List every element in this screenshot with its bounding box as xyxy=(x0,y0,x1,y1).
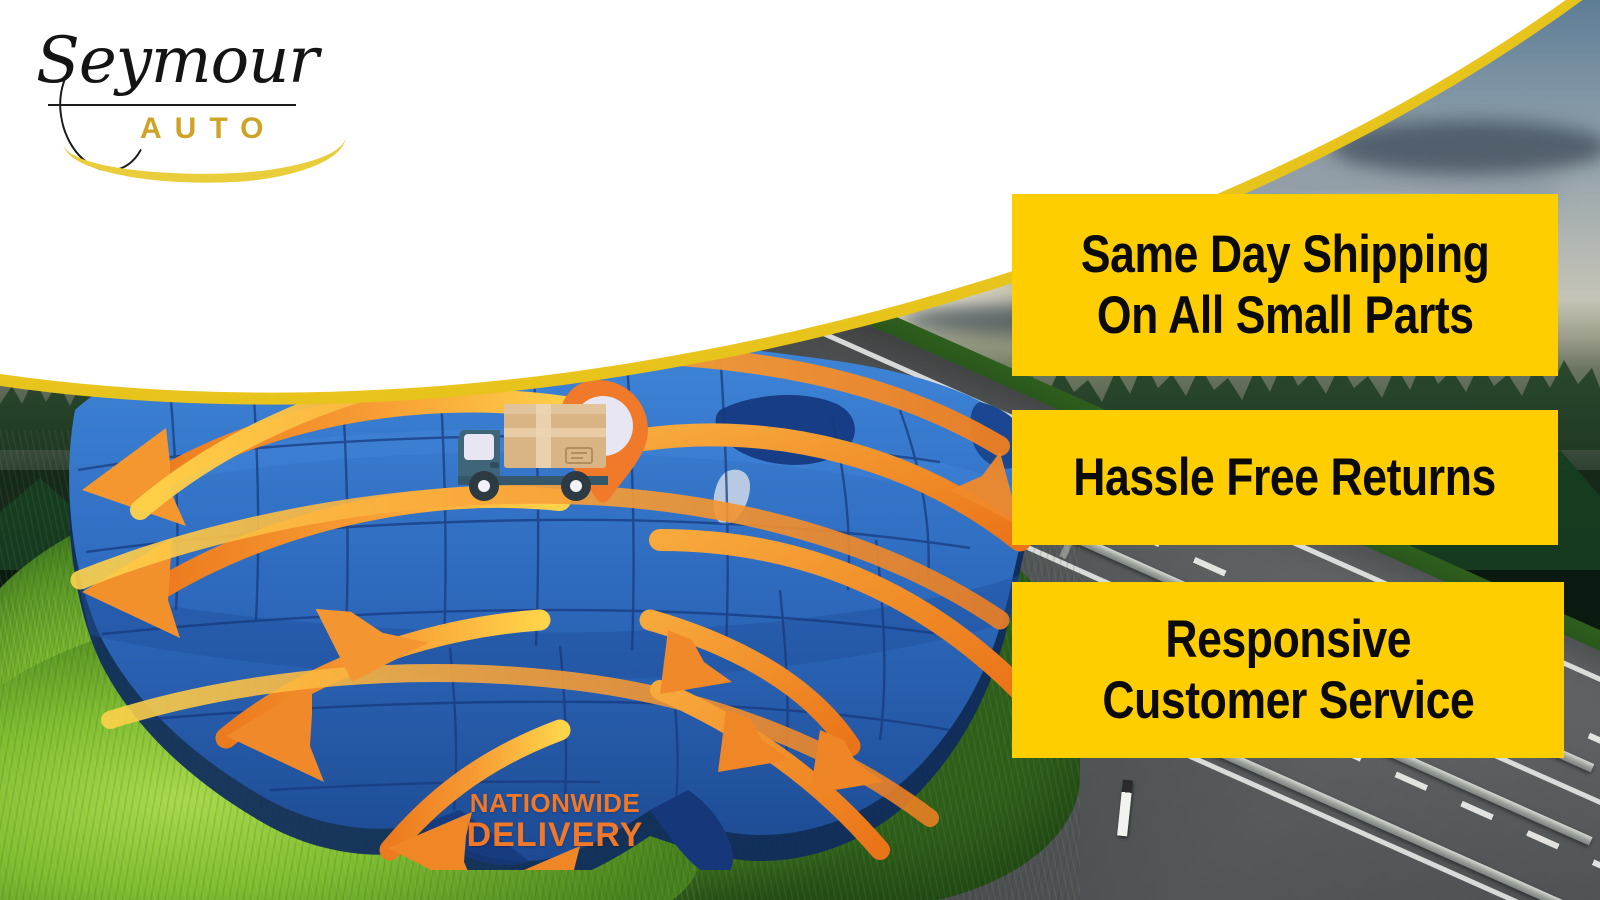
logo-underline xyxy=(48,104,296,106)
callout-responsive-customer-service[interactable]: Responsive Customer Service xyxy=(1012,582,1564,758)
callout-same-day-shipping[interactable]: Same Day Shipping On All Small Parts xyxy=(1012,194,1558,376)
callout-line: Same Day Shipping xyxy=(1081,224,1489,285)
delivery-truck-icon xyxy=(450,370,670,520)
callout-line: Customer Service xyxy=(1102,670,1474,731)
callout-line: Responsive xyxy=(1165,609,1411,670)
callout-hassle-free-returns[interactable]: Hassle Free Returns xyxy=(1012,410,1558,545)
badge-line-2: DELIVERY xyxy=(440,816,670,855)
nationwide-delivery-badge: NATIONWIDE DELIVERY xyxy=(440,790,670,855)
logo-script-name: Seymour xyxy=(36,24,318,98)
logo-sub-name: AUTO xyxy=(140,112,276,146)
callout-line: On All Small Parts xyxy=(1097,285,1474,346)
badge-line-1: NATIONWIDE xyxy=(440,790,670,816)
cloud xyxy=(1330,120,1600,174)
callout-line: Hassle Free Returns xyxy=(1074,447,1497,508)
seymour-auto-logo[interactable]: Seymour AUTO xyxy=(30,18,340,168)
promo-banner: NATIONWIDE DELIVERY Seymour AUTO Same Da… xyxy=(0,0,1600,900)
